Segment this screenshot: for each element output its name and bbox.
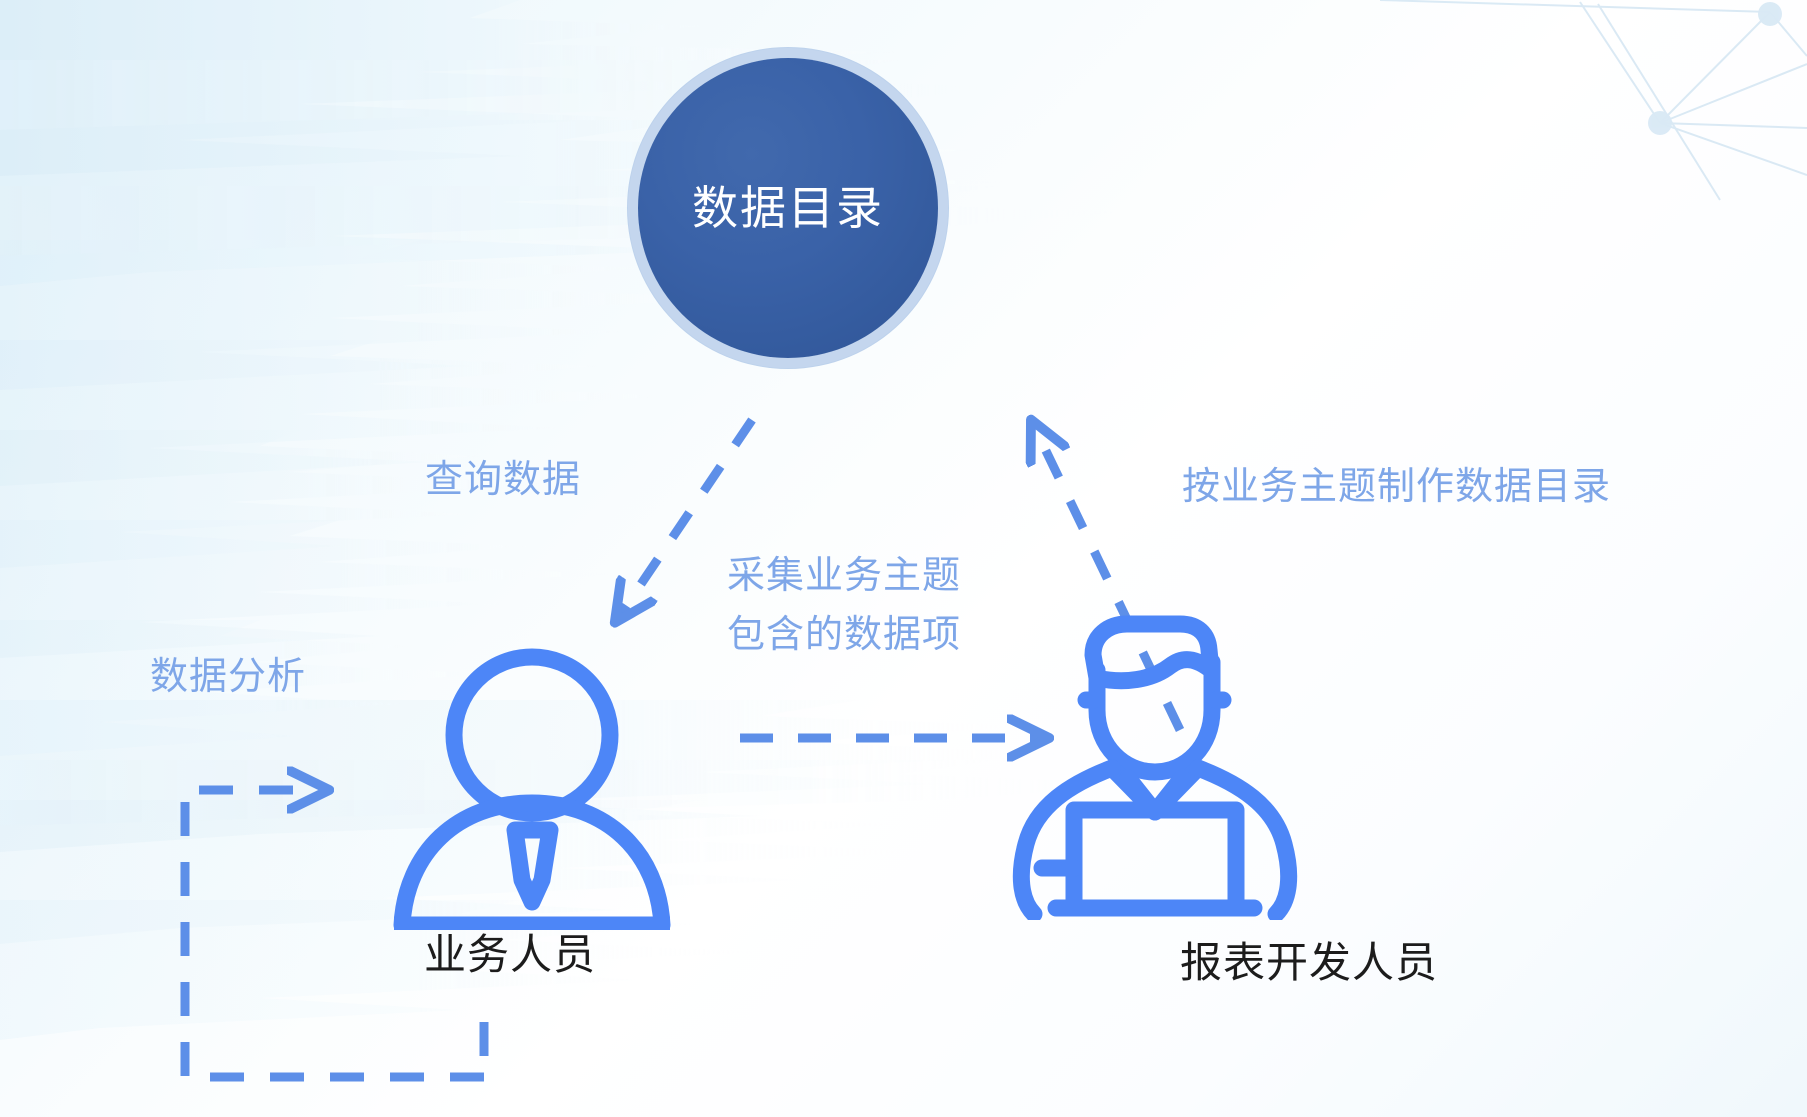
hub-label: 数据目录 [692,185,884,231]
diagram-canvas: 数据目录 查询数据 数据分析 采集业务主题 包含的数据项 按业务主题制作数据目录 [0,0,1807,1117]
edge-label-build-catalog: 按业务主题制作数据目录 [1182,458,1611,517]
persona-label-report-developer: 报表开发人员 [1180,929,1438,990]
developer-with-laptop-icon[interactable] [1000,600,1310,920]
edge-label-data-analysis: 数据分析 [150,648,306,707]
persona-label-business-person: 业务人员 [424,921,596,982]
edge-label-query-data: 查询数据 [425,451,581,510]
hub-node-data-catalog[interactable]: 数据目录 [638,58,938,358]
developer-with-laptop-icon-svg [1000,600,1310,920]
person-with-tie-icon-svg [390,640,675,930]
person-with-tie-icon[interactable] [390,640,675,930]
edge-label-collect-line1: 采集业务主题 [727,547,961,606]
edge-label-collect-data-items: 采集业务主题 包含的数据项 [727,547,961,665]
edge-label-collect-line2: 包含的数据项 [727,606,961,665]
